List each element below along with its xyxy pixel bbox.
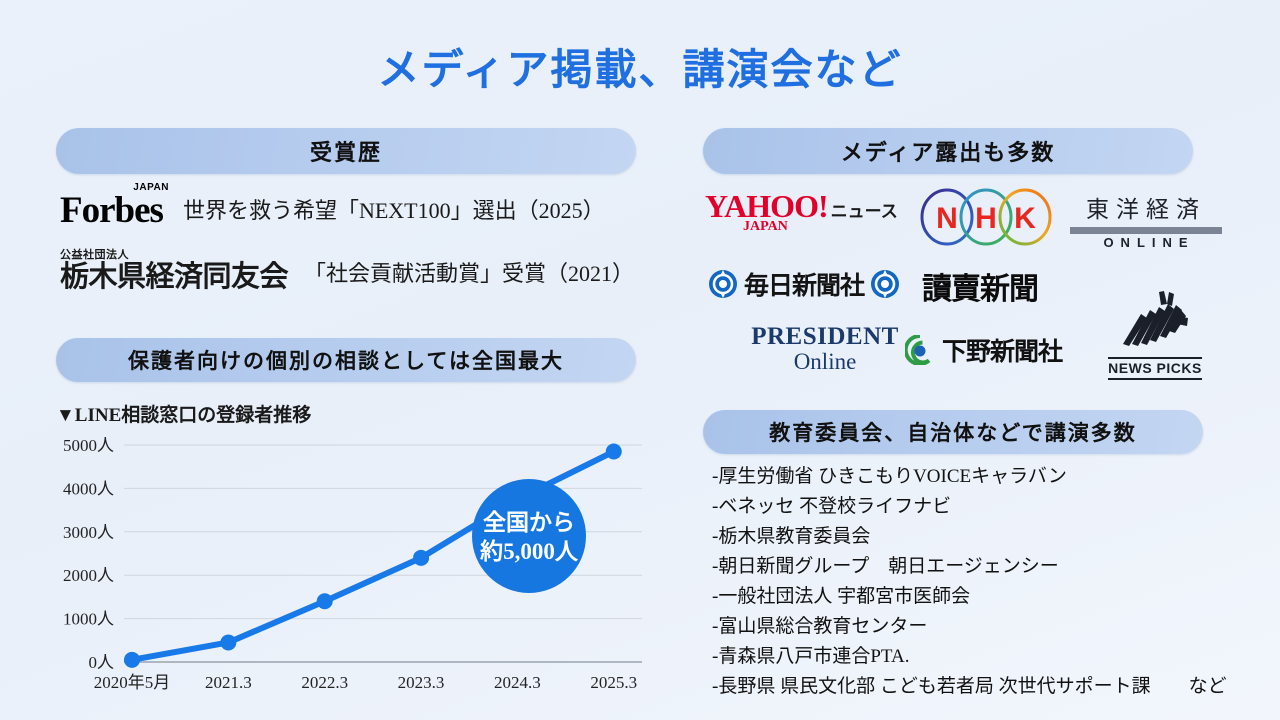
mainichi-emblem-icon-2 <box>870 269 900 299</box>
yahoo-japan-text: JAPAN <box>743 220 788 234</box>
badge-line-1: 全国から <box>483 510 575 535</box>
president-online-logo: PRESIDENT Online <box>730 324 920 374</box>
doyukai-corporate-prefix: 公益社団法人 <box>60 250 288 261</box>
toyo-keizai-divider-bar <box>1070 227 1222 234</box>
chart-x-tick-label: 2023.3 <box>398 673 445 692</box>
lecture-list: -厚生労働省 ひきこもりVOICEキャラバン-ベネッセ 不登校ライフナビ-栃木県… <box>712 462 1272 702</box>
lecture-item: -朝日新聞グループ 朝日エージェンシー <box>712 552 1272 582</box>
chart-y-tick-label: 1000人 <box>63 610 114 629</box>
chart-x-tick-label: 2022.3 <box>301 673 348 692</box>
shimotsuke-spiral-icon <box>905 335 935 365</box>
toyo-keizai-jp-text: 東洋経済 <box>1070 190 1222 224</box>
award-item-forbes: Forbes JAPAN 世界を救う希望「NEXT100」選出（2025） <box>60 192 605 229</box>
shimotsuke-shimbun-logo: 下野新聞社 <box>905 332 1062 368</box>
scale-header-label: 保護者向けの個別の相談としては全国最大 <box>128 345 564 375</box>
award-text-forbes: 世界を救う希望「NEXT100」選出（2025） <box>183 193 605 229</box>
media-logos-area: YAHOO! JAPAN ニュース N H K <box>700 182 1260 382</box>
lecture-item: -栃木県教育委員会 <box>712 522 1272 552</box>
mainichi-shimbun-logo: 毎日新聞社 <box>708 266 900 302</box>
newspicks-zebra-icon <box>1115 288 1195 350</box>
chart-y-tick-label: 5000人 <box>63 436 114 455</box>
lecture-item: -青森県八戸市連合PTA. <box>712 642 1272 672</box>
lecture-item: -厚生労働省 ひきこもりVOICEキャラバン <box>712 462 1272 492</box>
doyukai-wordmark: 栃木県経済同友会 <box>60 263 288 292</box>
chart-x-tick-label: 2020年5月 <box>94 673 171 692</box>
mainichi-wordmark: 毎日新聞社 <box>744 266 864 302</box>
mainichi-emblem-icon <box>708 269 738 299</box>
badge-circle <box>472 479 586 593</box>
toyo-keizai-online-logo: 東洋経済 ONLINE <box>1070 190 1222 250</box>
section-header-media: メディア露出も多数 <box>703 128 1193 174</box>
lecture-item: -長野県 県民文化部 こども若者局 次世代サポート課 など <box>712 672 1272 702</box>
media-header-label: メディア露出も多数 <box>841 135 1055 167</box>
tochigi-doyukai-logo: 公益社団法人 栃木県経済同友会 <box>60 250 288 292</box>
forbes-logo: Forbes JAPAN <box>60 192 167 229</box>
yomiuri-shimbun-logo: 讀賣新聞 <box>922 264 1038 308</box>
award-text-doyukai: 「社会貢献活動賞」受賞（2021） <box>304 256 634 292</box>
chart-data-point <box>220 634 236 650</box>
line-chart: 0人1000人2000人3000人4000人5000人 2020年5月2021.… <box>46 435 656 700</box>
chart-x-tick-label: 2024.3 <box>494 673 541 692</box>
newspicks-wordmark: NEWS PICKS <box>1108 357 1202 380</box>
forbes-wordmark: Forbes <box>60 190 163 231</box>
chart-y-tick-label: 3000人 <box>63 523 114 542</box>
chart-data-point <box>317 593 333 609</box>
toyo-keizai-online-text: ONLINE <box>1070 235 1222 250</box>
chart-data-point <box>413 550 429 566</box>
chart-x-tick-label: 2025.3 <box>590 673 637 692</box>
nhk-logo-svg: N H K <box>916 186 1056 248</box>
nhk-letter-h: H <box>975 202 997 235</box>
nhk-letter-k: K <box>1014 202 1036 235</box>
nhk-letter-n: N <box>936 202 958 235</box>
chart-caption: ▼LINE相談窓口の登録者推移 <box>56 400 311 427</box>
president-online-subtext: Online <box>730 350 920 374</box>
chart-data-point <box>124 652 140 668</box>
lectures-header-label: 教育委員会、自治体などで講演多数 <box>769 417 1137 447</box>
yahoo-news-suffix: ニュース <box>831 197 898 222</box>
yahoo-wordmark: YAHOO! JAPAN <box>705 190 828 232</box>
chart-annotation-badge: 全国から 約5,000人 <box>472 479 586 593</box>
section-header-awards: 受賞歴 <box>56 128 636 174</box>
yahoo-news-japan-logo: YAHOO! JAPAN ニュース <box>705 190 898 232</box>
chart-x-tick-label: 2021.3 <box>205 673 252 692</box>
president-wordmark: PRESIDENT <box>730 324 920 350</box>
chart-y-axis-labels: 0人1000人2000人3000人4000人5000人 <box>63 436 114 672</box>
forbes-japan-superscript: JAPAN <box>133 183 169 193</box>
chart-y-tick-label: 2000人 <box>63 566 114 585</box>
chart-y-tick-label: 4000人 <box>63 479 114 498</box>
page-title: メディア掲載、講演会など <box>0 36 1280 97</box>
lecture-item: -一般社団法人 宇都宮市医師会 <box>712 582 1272 612</box>
shimotsuke-wordmark: 下野新聞社 <box>942 332 1062 368</box>
badge-line-2: 約5,000人 <box>479 538 579 564</box>
newspicks-logo: NEWS PICKS <box>1100 288 1210 380</box>
nhk-logo: N H K <box>916 186 1056 253</box>
chart-y-tick-label: 0人 <box>89 653 115 672</box>
section-header-lectures: 教育委員会、自治体などで講演多数 <box>703 410 1203 454</box>
award-item-doyukai: 公益社団法人 栃木県経済同友会 「社会貢献活動賞」受賞（2021） <box>60 250 634 292</box>
section-header-scale: 保護者向けの個別の相談としては全国最大 <box>56 338 636 382</box>
chart-x-axis-labels: 2020年5月2021.32022.32023.32024.32025.3 <box>94 673 637 692</box>
awards-header-label: 受賞歴 <box>310 135 382 167</box>
chart-svg: 0人1000人2000人3000人4000人5000人 2020年5月2021.… <box>46 435 656 700</box>
lecture-item: -富山県総合教育センター <box>712 612 1272 642</box>
chart-data-point <box>606 444 622 460</box>
lecture-item: -ベネッセ 不登校ライフナビ <box>712 492 1272 522</box>
